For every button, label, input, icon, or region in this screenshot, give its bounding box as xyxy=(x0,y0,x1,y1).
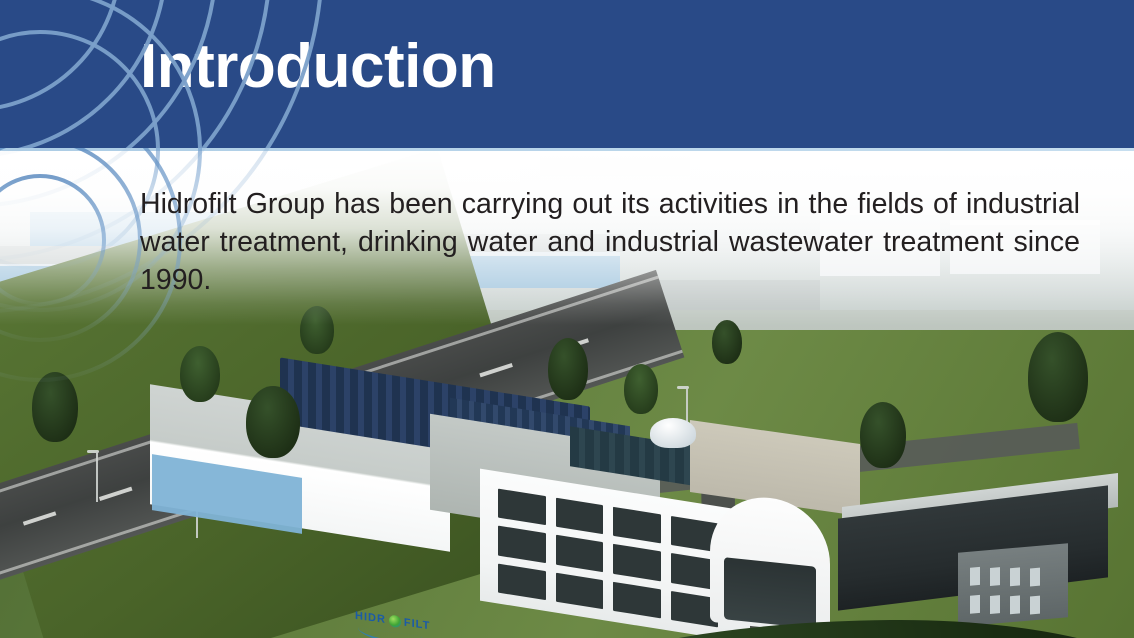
distant-building xyxy=(540,156,690,176)
body-paragraph: Hidrofilt Group has been carrying out it… xyxy=(140,185,1080,299)
tree xyxy=(32,372,78,442)
distant-building xyxy=(840,150,1030,176)
tree xyxy=(246,386,300,458)
street-light xyxy=(96,450,98,502)
page-title: Introduction xyxy=(140,34,496,99)
tree xyxy=(180,346,220,402)
gray-office-block xyxy=(958,543,1068,627)
tree xyxy=(300,306,334,354)
globe-icon xyxy=(389,614,401,628)
header-band: Introduction xyxy=(0,0,1134,148)
tree xyxy=(712,320,742,364)
tree xyxy=(1028,332,1088,422)
roof-skylight-dome xyxy=(650,418,696,448)
slide-canvas: HIDR FILT xyxy=(0,0,1134,638)
tree xyxy=(624,364,658,414)
tree xyxy=(860,402,906,468)
rotunda-glazing xyxy=(724,557,816,629)
distant-building xyxy=(700,152,820,170)
header-underline xyxy=(0,148,1134,151)
tree xyxy=(548,338,588,400)
